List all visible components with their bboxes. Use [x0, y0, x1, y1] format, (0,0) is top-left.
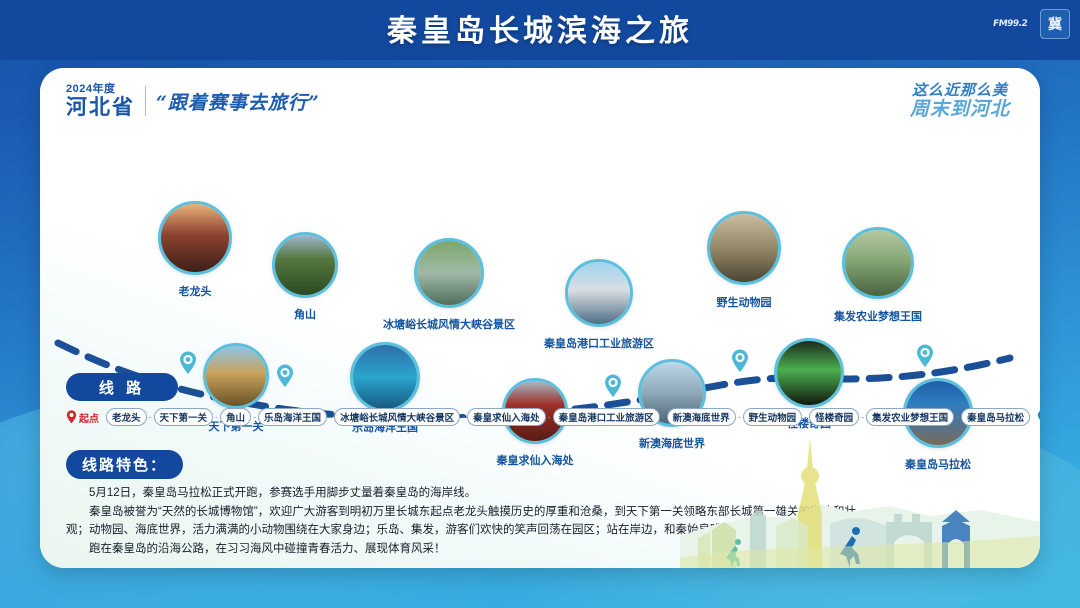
route-stop-chip[interactable]: 秦皇岛港口工业旅游区 — [553, 408, 660, 426]
chain-separator: - — [329, 412, 332, 422]
chain-separator: - — [548, 412, 551, 422]
poi-thumbnail[interactable] — [842, 227, 914, 299]
page-title: 秦皇岛长城滨海之旅 — [0, 6, 1080, 50]
radio-fm-logo-icon: FM99.2 — [986, 10, 1034, 38]
poi-thumbnail[interactable] — [350, 342, 420, 412]
poi-thumbnail[interactable] — [414, 238, 484, 308]
route-stop-chip[interactable]: 老龙头 — [106, 408, 147, 426]
poi-label: 老龙头 — [179, 283, 212, 299]
hebei-campaign-mark: 这么近那么美 周末到河北 — [910, 82, 1010, 120]
map-pin-icon[interactable] — [276, 364, 294, 393]
chain-separator: - — [215, 412, 218, 422]
campaign-brand-lockup: 2024年度 河北省 “跟着赛事去旅行” — [66, 84, 320, 118]
route-stop-chip[interactable]: 秦皇求仙入海处 — [467, 408, 546, 426]
poi-label: 冰塘峪长城风情大峡谷景区 — [383, 316, 515, 332]
map-pin-icon[interactable] — [604, 374, 622, 403]
start-pin-icon — [66, 410, 77, 424]
main-card: 2024年度 河北省 “跟着赛事去旅行” 这么近那么美 周末到河北 — [40, 68, 1040, 568]
poi-label: 角山 — [294, 306, 316, 322]
map-pin-icon[interactable] — [916, 344, 934, 373]
poi-thumbnail[interactable] — [707, 211, 781, 285]
poi-label: 野生动物园 — [717, 294, 772, 310]
features-section-title: 线路特色： — [66, 450, 183, 479]
page-header: 秦皇岛长城滨海之旅 FM99.2 冀 — [0, 0, 1080, 60]
map-pin-icon[interactable] — [731, 349, 749, 378]
poi-thumbnail[interactable] — [158, 201, 232, 275]
chain-separator: - — [149, 412, 152, 422]
route-stop-chip[interactable]: 乐岛海洋王国 — [258, 408, 327, 426]
chain-separator: - — [662, 412, 665, 422]
brand-year: 2024年度 — [66, 84, 135, 95]
route-stop-chip[interactable]: 角山 — [220, 408, 251, 426]
chain-separator: - — [253, 412, 256, 422]
poi-label: 秦皇求仙入海处 — [497, 452, 574, 468]
chain-separator: - — [462, 412, 465, 422]
poi-label: 秦皇岛港口工业旅游区 — [544, 335, 654, 351]
campaign-line-2: 周末到河北 — [910, 99, 1010, 120]
poi-thumbnail[interactable] — [272, 232, 338, 298]
poi-label: 集发农业梦想王国 — [834, 308, 922, 324]
header-logo-group: FM99.2 冀 — [988, 9, 1070, 39]
route-section-title: 线 路 — [66, 373, 178, 401]
route-start-label: 起点 — [79, 410, 99, 425]
poi-thumbnail[interactable] — [203, 343, 269, 409]
brand-divider — [145, 86, 146, 116]
skyline-illustration — [680, 418, 1040, 568]
brand-province: 河北省 — [66, 97, 135, 118]
campaign-line-1: 这么近那么美 — [910, 82, 1010, 99]
poi-thumbnail[interactable] — [774, 338, 844, 408]
poi-thumbnail[interactable] — [565, 259, 633, 327]
route-start-marker: 起点 — [66, 410, 99, 425]
route-map: 老龙头角山冰塘峪长城风情大峡谷景区秦皇岛港口工业旅游区野生动物园集发农业梦想王国… — [40, 128, 1040, 418]
jishi-broadcast-logo-icon: 冀 — [1040, 9, 1070, 39]
route-stop-chip[interactable]: 冰塘峪长城风情大峡谷景区 — [334, 408, 460, 426]
map-pin-icon[interactable] — [179, 351, 197, 380]
route-stop-chip[interactable]: 天下第一关 — [154, 408, 214, 426]
brand-slogan: “跟着赛事去旅行” — [156, 88, 320, 115]
